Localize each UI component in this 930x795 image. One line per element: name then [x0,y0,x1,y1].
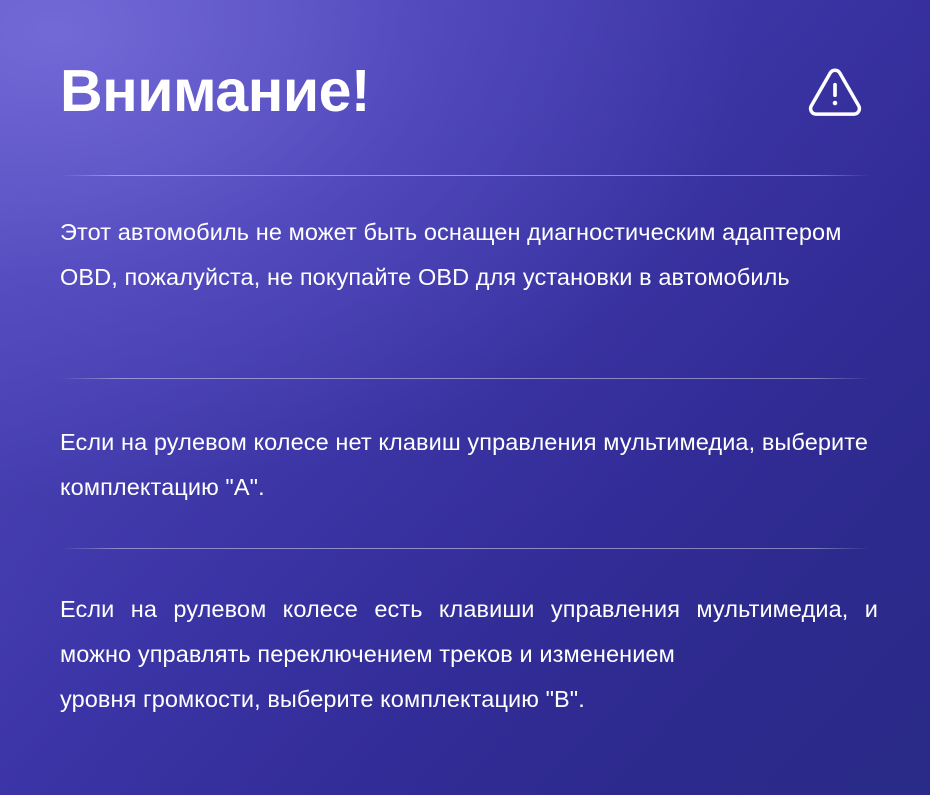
section-trim-b: Если на рулевом колесе есть клавиши упра… [60,587,878,722]
section-obd-warning: Этот автомобиль не может быть оснащен ди… [60,210,878,300]
warning-card: Внимание! Этот автомобиль не может быть … [0,0,930,795]
card-header: Внимание! [60,44,870,140]
obd-warning-text: Этот автомобиль не может быть оснащен ди… [60,210,878,300]
trim-a-text: Если на рулевом колесе нет клавиш управл… [60,420,878,510]
warning-triangle-icon [804,61,870,123]
trim-b-text-secondary: уровня громкости, выберите комплектацию … [60,677,878,722]
divider-top [60,175,870,176]
page-title: Внимание! [60,61,370,123]
divider-middle [60,378,870,379]
trim-b-text-primary: Если на рулевом колесе есть клавиши упра… [60,587,878,677]
divider-bottom [60,548,870,549]
section-trim-a: Если на рулевом колесе нет клавиш управл… [60,420,878,510]
